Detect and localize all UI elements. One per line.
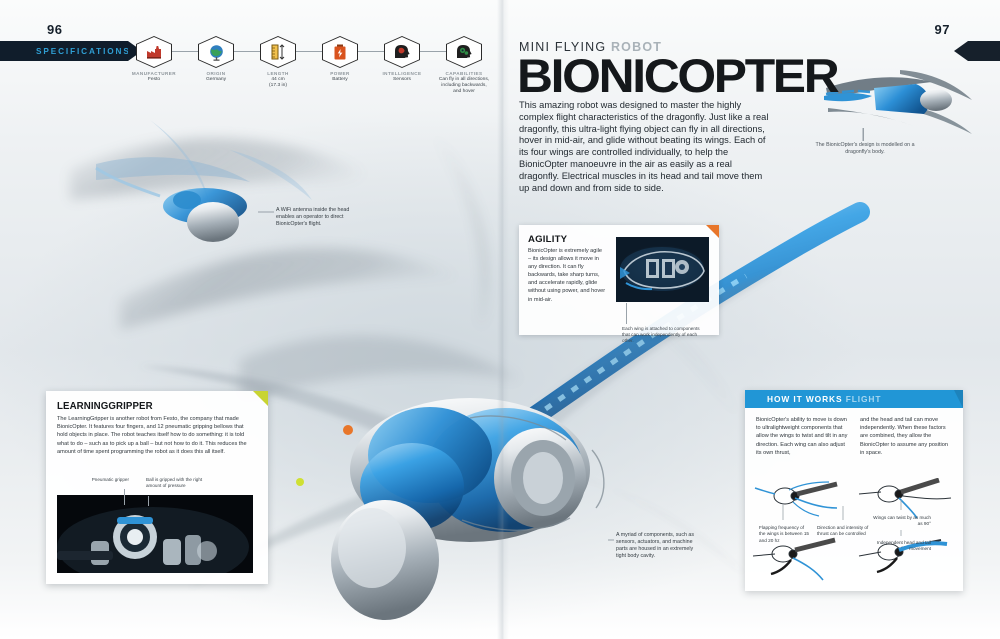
flight-diagram: Flapping frequency of the wings is betwe… <box>751 478 957 586</box>
head-gears-icon <box>446 36 482 68</box>
flight-diagram-label-1: Flapping frequency of the wings is betwe… <box>759 525 811 544</box>
agility-photo <box>616 237 709 302</box>
learninggripper-body: The LearningGripper is another robot fro… <box>57 415 253 456</box>
gripper-label-leader-left <box>124 489 125 505</box>
spec-item-length: LENGTH 44 cm (17.3 in) <box>250 36 306 89</box>
ruler-icon <box>260 36 296 68</box>
gripper-label-leader-right <box>148 496 149 506</box>
how-it-works-title: HOW IT WORKS <box>756 394 842 404</box>
callout-myriad-components: A myriad of components, such as sensors,… <box>616 532 696 560</box>
spec-value: Germany <box>188 77 244 83</box>
spec-value: Battery <box>312 77 368 83</box>
agility-image-caption: Each wing is attached to components that… <box>622 326 707 345</box>
how-it-works-subtitle: FLIGHT <box>846 394 882 404</box>
page-title: BIONICOPTER <box>517 52 837 99</box>
spec-value: Festo <box>126 77 182 83</box>
how-it-works-column-left: BionicOpter's ability to move is down to… <box>756 416 848 457</box>
page-gutter <box>497 0 509 639</box>
dragonfly-inset-caption: The BionicOpter's design is modelled on … <box>815 142 915 156</box>
specifications-tab: SPECIFICATIONS <box>0 41 128 61</box>
spec-title: POWER <box>312 71 368 76</box>
spec-item-power: POWER Battery <box>312 36 368 83</box>
spec-item-capabilities: CAPABILITIES Can fly in all directions, … <box>436 36 492 96</box>
learninggripper-photo <box>57 495 253 573</box>
magazine-spread: 96 97 SPECIFICATIONS MANUFACTURER Festo … <box>0 0 1000 639</box>
dragonfly-caption-leader <box>863 128 864 141</box>
how-it-works-panel: HOW IT WORKS FLIGHT BionicOpter's abilit… <box>745 390 963 591</box>
how-it-works-bar: HOW IT WORKS FLIGHT <box>745 390 963 408</box>
agility-caption-leader <box>626 303 627 324</box>
agility-heading: AGILITY <box>528 234 567 245</box>
flight-diagram-label-4: Independent head and tail movement <box>869 540 931 553</box>
spec-title: CAPABILITIES <box>436 71 492 76</box>
spec-value: Can fly in all directions, including bac… <box>436 77 492 96</box>
how-it-works-bar-text: HOW IT WORKS FLIGHT <box>745 394 881 404</box>
spec-title: LENGTH <box>250 71 306 76</box>
spec-item-intelligence: INTELLIGENCE Sensors <box>374 36 430 83</box>
battery-icon <box>322 36 358 68</box>
gripper-label-pneumatic: Pneumatic gripper <box>85 477 129 483</box>
agility-body: BionicOpter is extremely agile – its des… <box>528 247 606 304</box>
brain-icon <box>384 36 420 68</box>
flight-diagram-label-3: Wings can twist by as much as 90° <box>869 515 931 528</box>
page-number-right: 97 <box>935 22 950 37</box>
gripper-label-ball: Ball is gripped with the right amount of… <box>146 477 208 489</box>
how-it-works-columns: BionicOpter's ability to move is down to… <box>756 416 952 457</box>
spec-item-origin: ORIGIN Germany <box>188 36 244 83</box>
globe-icon <box>198 36 234 68</box>
callout-wifi-antenna: A WiFi antenna inside the head enables a… <box>276 207 354 228</box>
learninggripper-heading: LEARNINGGRIPPER <box>57 401 153 412</box>
specifications-tab-label: SPECIFICATIONS <box>0 47 131 56</box>
flight-diagram-label-2: Direction and intensity of thrust can be… <box>817 525 869 538</box>
spec-item-manufacturer: MANUFACTURER Festo <box>126 36 182 83</box>
specifications-row: MANUFACTURER Festo ORIGIN Germany LENGTH… <box>126 36 496 108</box>
page-number-left: 96 <box>47 22 62 37</box>
spec-value: 44 cm (17.3 in) <box>250 77 306 89</box>
spec-title: MANUFACTURER <box>126 71 182 76</box>
intro-paragraph: This amazing robot was designed to maste… <box>519 100 769 194</box>
how-it-works-column-right: and the head and tail can move independe… <box>860 416 952 457</box>
spec-title: ORIGIN <box>188 71 244 76</box>
spec-value: Sensors <box>374 77 430 83</box>
factory-icon <box>136 36 172 68</box>
agility-panel: AGILITY BionicOpter is extremely agile –… <box>519 225 719 335</box>
page-arrow-right <box>968 41 1000 61</box>
dragonfly-inset <box>824 70 972 134</box>
spec-title: INTELLIGENCE <box>374 71 430 76</box>
